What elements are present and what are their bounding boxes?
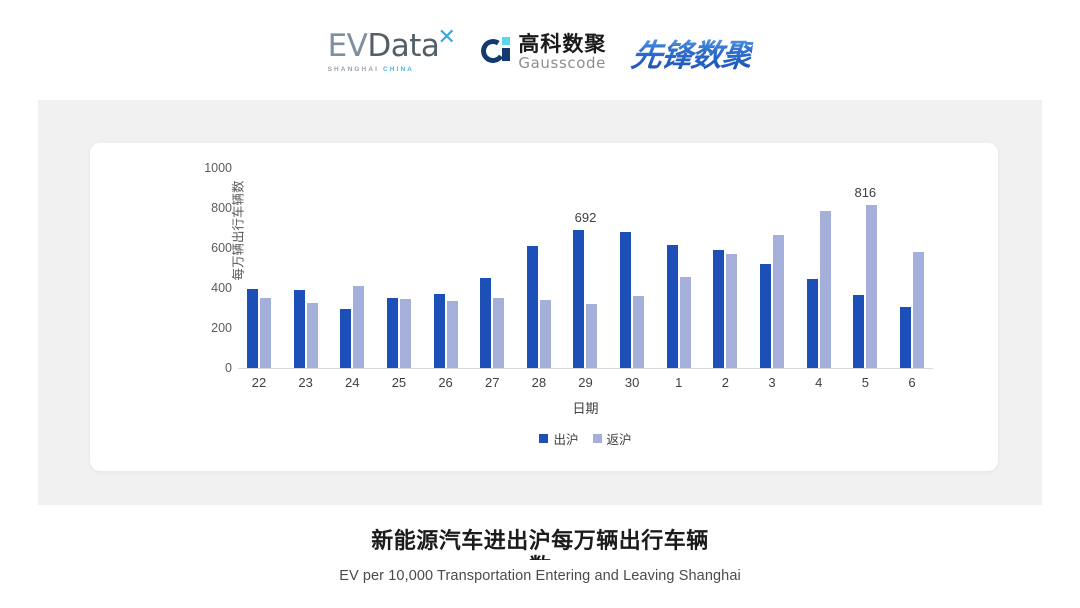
bar-value-label: 816 (854, 185, 876, 200)
evdata-tagline-city: SHANGHAI (328, 66, 383, 73)
bar-back (493, 298, 504, 368)
y-axis-tick: 200 (190, 321, 232, 335)
bar-group (238, 168, 280, 368)
bar-group (378, 168, 420, 368)
bar-back (913, 252, 924, 368)
bar-back (726, 254, 737, 368)
bar-out (387, 298, 398, 368)
caption-title-cn-clipped: 数 (0, 554, 1080, 560)
y-axis-tick: 400 (190, 281, 232, 295)
evdata-tagline: SHANGHAI CHINA (328, 66, 414, 73)
bar-group: 692 (564, 168, 606, 368)
gausscode-text: 高科数聚 Gausscode (518, 34, 606, 71)
bar-group (425, 168, 467, 368)
bar-group (285, 168, 327, 368)
x-axis-tick: 3 (751, 375, 793, 390)
x-axis-tick: 22 (238, 375, 280, 390)
bar-back (447, 301, 458, 368)
evdata-wordmark: EVData✕ (328, 31, 440, 62)
bar-chart: 每万辆出行车辆数 02004006008001000 692816 222324… (90, 143, 998, 471)
bar-back (540, 300, 551, 368)
x-axis-tick: 5 (844, 375, 886, 390)
bar-group (891, 168, 933, 368)
bar-out (573, 230, 584, 368)
y-axis-tick: 0 (190, 361, 232, 375)
y-axis-ticks: 02004006008001000 (190, 168, 232, 368)
bar-back (773, 235, 784, 368)
plot-area: 692816 (238, 168, 933, 369)
bar-out (340, 309, 351, 368)
gausscode-square-cyan-icon (502, 37, 510, 45)
x-axis-tick: 26 (425, 375, 467, 390)
x-axis-tick: 28 (518, 375, 560, 390)
legend-swatch-icon (539, 434, 548, 443)
bar-out (853, 295, 864, 368)
x-axis-tick: 2 (704, 375, 746, 390)
bar-out (900, 307, 911, 368)
bar-out (760, 264, 771, 368)
gausscode-mark-icon (481, 37, 511, 67)
bar-group (611, 168, 653, 368)
x-axis-tick: 4 (798, 375, 840, 390)
bar-out (247, 289, 258, 368)
bar-group (751, 168, 793, 368)
legend-item[interactable]: 返沪 (593, 429, 632, 448)
evdata-tagline-country: CHINA (383, 66, 414, 73)
x-axis-tick: 6 (891, 375, 933, 390)
x-axis-ticks: 222324252627282930123456 (238, 375, 933, 390)
bar-back (633, 296, 644, 368)
x-axis-tick: 23 (285, 375, 327, 390)
bar-group (331, 168, 373, 368)
bar-out (294, 290, 305, 368)
y-axis-tick: 800 (190, 201, 232, 215)
bar-group (798, 168, 840, 368)
bar-back (866, 205, 877, 368)
caption-subtitle-en: EV per 10,000 Transportation Entering an… (0, 568, 1080, 584)
chart-legend: 出沪返沪 (238, 429, 933, 448)
gausscode-name-cn: 高科数聚 (518, 34, 606, 55)
y-axis-tick: 1000 (190, 161, 232, 175)
bar-out (434, 294, 445, 368)
y-axis-tick: 600 (190, 241, 232, 255)
evdata-logo: EVData✕ SHANGHAI CHINA (328, 31, 456, 73)
bar-back (400, 299, 411, 368)
gausscode-logo: 高科数聚 Gausscode (481, 34, 606, 71)
bar-out (667, 245, 678, 368)
caption-block: 新能源汽车进出沪每万辆出行车辆 数 EV per 10,000 Transpor… (0, 528, 1080, 584)
x-axis-tick: 1 (658, 375, 700, 390)
legend-item[interactable]: 出沪 (539, 429, 578, 448)
x-axis-tick: 29 (564, 375, 606, 390)
x-axis-tick: 24 (331, 375, 373, 390)
legend-swatch-icon (593, 434, 602, 443)
bar-out (713, 250, 724, 368)
xianfeng-logo: 先锋数聚 (629, 30, 755, 75)
x-axis-tick: 30 (611, 375, 653, 390)
bar-back (586, 304, 597, 368)
bar-group (704, 168, 746, 368)
bar-back (353, 286, 364, 368)
caption-title-cn: 新能源汽车进出沪每万辆出行车辆 (0, 528, 1080, 556)
bar-out (807, 279, 818, 368)
x-axis-tick: 27 (471, 375, 513, 390)
chart-card: 每万辆出行车辆数 02004006008001000 692816 222324… (90, 143, 998, 471)
evdata-prefix: EV (328, 28, 368, 64)
x-axis-tick: 25 (378, 375, 420, 390)
bar-back (820, 211, 831, 368)
x-axis-title: 日期 (238, 398, 933, 417)
bar-back (680, 277, 691, 368)
bar-out (620, 232, 631, 368)
bar-value-label: 692 (575, 210, 597, 225)
legend-label: 出沪 (553, 429, 578, 448)
evdata-suffix: Data (367, 28, 439, 64)
bar-out (480, 278, 491, 368)
gausscode-name-en: Gausscode (518, 56, 606, 71)
bar-group: 816 (844, 168, 886, 368)
gausscode-square-navy-icon (502, 48, 510, 61)
logo-bar: EVData✕ SHANGHAI CHINA 高科数聚 Gausscode 先锋… (0, 22, 1080, 82)
legend-label: 返沪 (607, 429, 632, 448)
bar-back (307, 303, 318, 368)
bar-group (518, 168, 560, 368)
caption-cn-wrap: 新能源汽车进出沪每万辆出行车辆 数 (0, 528, 1080, 560)
bar-group (658, 168, 700, 368)
evdata-x-icon: ✕ (437, 27, 455, 49)
bar-back (260, 298, 271, 368)
bar-out (527, 246, 538, 368)
bar-group (471, 168, 513, 368)
